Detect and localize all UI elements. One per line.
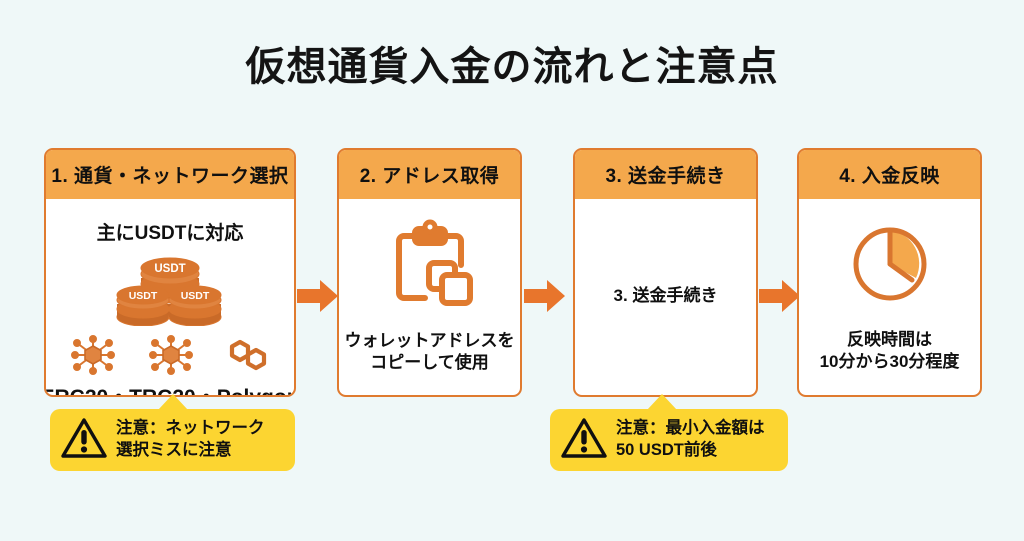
warning-callout-1-line1: 注意：ネットワーク: [116, 418, 265, 440]
card-2-caption-line2: コピーして使用: [345, 352, 515, 374]
card-4-caption-line1: 反映時間は: [820, 329, 960, 351]
erc20-node-icon: [71, 335, 115, 380]
card-4-body: 反映時間は 10分から30分程度: [799, 199, 980, 395]
card-2-caption: ウォレットアドレスを コピーして使用: [345, 330, 515, 374]
usdt-coin-stack-icon: USDT USDT: [114, 252, 226, 331]
card-2-caption-line1: ウォレットアドレスを: [345, 330, 515, 352]
flow-step-card-3[interactable]: 3. 送金手続き 3. 送金手続き: [573, 148, 758, 397]
warning-callout-1[interactable]: 注意：ネットワーク 選択ミスに注意: [50, 409, 295, 471]
flow-diagram: 1. 通貨・ネットワーク選択 主にUSDTに対応 USDT: [0, 148, 1024, 398]
flow-step-card-4[interactable]: 4. 入金反映 反映時間は 10分から30分程度: [797, 148, 982, 397]
arrow-right-1: [297, 279, 339, 313]
warning-callout-2[interactable]: 注意：最小入金額は 50 USDT前後: [550, 409, 788, 471]
warning-callout-2-text: 注意：最小入金額は 50 USDT前後: [616, 418, 765, 462]
card-1-body: 主にUSDTに対応 USDT: [46, 199, 294, 397]
card-3-caption: 3. 送金手続き: [614, 285, 718, 307]
arrow-right-2: [524, 279, 566, 313]
card-3-body: 3. 送金手続き: [575, 199, 756, 395]
clock-icon: [846, 220, 934, 313]
warning-callout-2-line2: 50 USDT前後: [616, 440, 765, 462]
svg-text:USDT: USDT: [129, 290, 158, 302]
network-icon-row: [71, 335, 269, 380]
flow-step-card-1[interactable]: 1. 通貨・ネットワーク選択 主にUSDTに対応 USDT: [44, 148, 296, 397]
polygon-logo-icon: [227, 335, 269, 380]
card-3-header: 3. 送金手続き: [575, 150, 756, 199]
warning-callout-2-line1: 注意：最小入金額は: [616, 418, 765, 440]
svg-text:USDT: USDT: [154, 263, 185, 275]
arrow-right-3: [759, 279, 801, 313]
card-1-top-caption: 主にUSDTに対応: [97, 222, 244, 246]
trc20-node-icon: [149, 335, 193, 380]
card-2-body: ウォレットアドレスを コピーして使用: [339, 199, 520, 395]
card-4-caption: 反映時間は 10分から30分程度: [820, 329, 960, 373]
warning-triangle-icon: [561, 417, 607, 464]
card-2-header: 2. アドレス取得: [339, 150, 520, 199]
warning-callout-1-line2: 選択ミスに注意: [116, 440, 265, 462]
clipboard-copy-icon: [384, 219, 476, 316]
card-4-header: 4. 入金反映: [799, 150, 980, 199]
warning-callout-2-notch: [647, 394, 677, 410]
warning-callout-1-text: 注意：ネットワーク 選択ミスに注意: [116, 418, 265, 462]
svg-text:USDT: USDT: [181, 290, 210, 302]
flow-step-card-2[interactable]: 2. アドレス取得 ウォレットアドレスを コピーして使用: [337, 148, 522, 397]
card-1-header: 1. 通貨・ネットワーク選択: [46, 150, 294, 199]
page-title: 仮想通貨入金の流れと注意点: [0, 34, 1024, 92]
warning-triangle-icon: [61, 417, 107, 464]
card-4-caption-line2: 10分から30分程度: [820, 351, 960, 373]
warning-callout-1-notch: [158, 394, 188, 410]
